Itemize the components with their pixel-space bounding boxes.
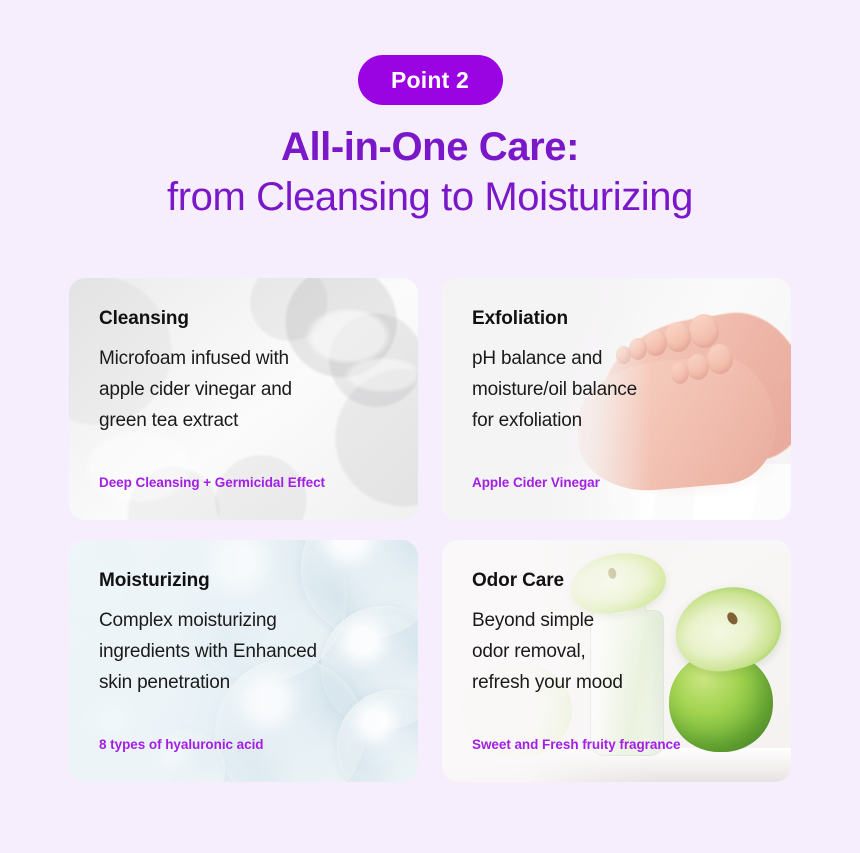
card-body: Cleansing Microfoam infused with apple c…	[69, 278, 418, 436]
point-badge: Point 2	[358, 55, 503, 105]
feature-card-cleansing[interactable]: Cleansing Microfoam infused with apple c…	[69, 278, 418, 520]
feature-card-grid: Cleansing Microfoam infused with apple c…	[69, 278, 791, 782]
feature-card-exfoliation[interactable]: Exfoliation pH balance and moisture/oil …	[442, 278, 791, 520]
card-heading: Cleansing	[99, 308, 418, 330]
card-heading: Moisturizing	[99, 570, 418, 592]
title-line-2: from Cleansing to Moisturizing	[0, 174, 860, 220]
feature-card-moisturizing[interactable]: Moisturizing Complex moisturizing ingred…	[69, 540, 418, 782]
card-description: pH balance and moisture/oil balance for …	[472, 344, 722, 436]
card-accent-label: 8 types of hyaluronic acid	[99, 737, 264, 752]
card-heading: Exfoliation	[472, 308, 791, 330]
card-accent-label: Deep Cleansing + Germicidal Effect	[99, 475, 325, 490]
badge-row: Point 2	[0, 55, 860, 105]
card-description: Microfoam infused with apple cider vineg…	[99, 344, 349, 436]
card-body: Moisturizing Complex moisturizing ingred…	[69, 540, 418, 698]
card-description: Complex moisturizing ingredients with En…	[99, 606, 349, 698]
card-body: Odor Care Beyond simple odor removal, re…	[442, 540, 791, 698]
feature-card-odor-care[interactable]: Odor Care Beyond simple odor removal, re…	[442, 540, 791, 782]
card-description: Beyond simple odor removal, refresh your…	[472, 606, 722, 698]
card-accent-label: Apple Cider Vinegar	[472, 475, 600, 490]
title-line-1: All-in-One Care:	[0, 124, 860, 170]
promo-page: Point 2 All-in-One Care: from Cleansing …	[0, 0, 860, 853]
card-body: Exfoliation pH balance and moisture/oil …	[442, 278, 791, 436]
card-accent-label: Sweet and Fresh fruity fragrance	[472, 737, 680, 752]
card-heading: Odor Care	[472, 570, 791, 592]
page-title: All-in-One Care: from Cleansing to Moist…	[0, 124, 860, 221]
